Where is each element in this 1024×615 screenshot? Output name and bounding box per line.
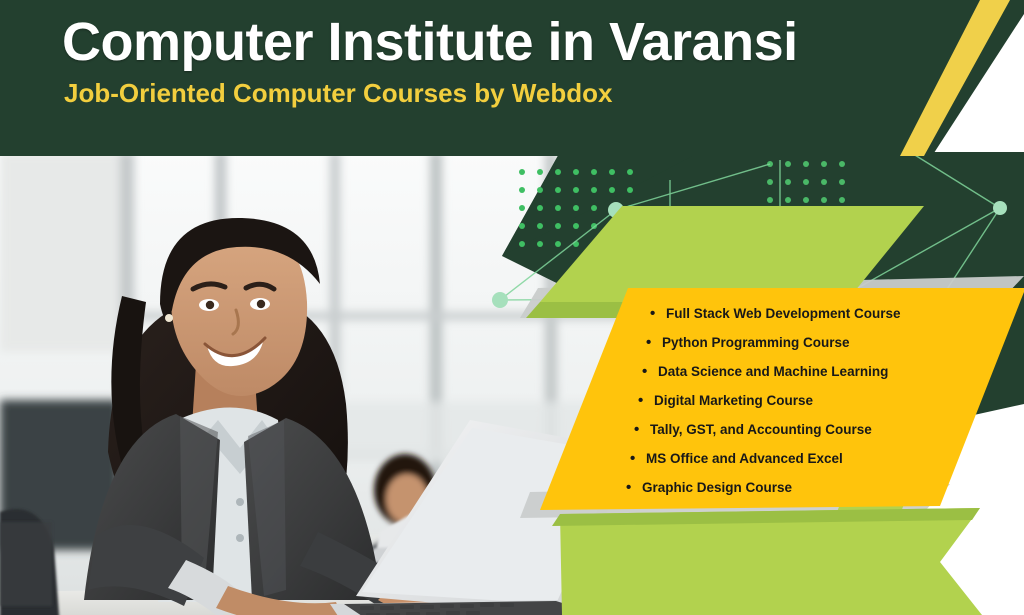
course-list-panel: • Full Stack Web Development Course • Py… [540,288,1024,510]
bullet-icon: • [634,422,650,437]
course-label: Full Stack Web Development Course [666,306,901,321]
bullet-icon: • [642,364,658,379]
list-item[interactable]: • Graphic Design Course [540,473,1024,502]
list-item[interactable]: • Full Stack Web Development Course [540,299,1024,328]
header-text-block: Computer Institute in Varansi Job-Orient… [62,14,922,108]
list-item[interactable]: • Digital Marketing Course [540,386,1024,415]
list-item[interactable]: • Python Programming Course [540,328,1024,357]
bullet-icon: • [638,393,654,408]
page-title: Computer Institute in Varansi [62,14,922,71]
course-label: Digital Marketing Course [654,393,813,408]
bullet-icon: • [646,335,662,350]
course-label: Data Science and Machine Learning [658,364,888,379]
page-subtitle: Job-Oriented Computer Courses by Webdox [64,79,922,108]
list-item[interactable]: • Tally, GST, and Accounting Course [540,415,1024,444]
list-item[interactable]: • MS Office and Advanced Excel [540,444,1024,473]
course-label: Python Programming Course [662,335,850,350]
course-list: • Full Stack Web Development Course • Py… [540,288,1024,521]
bullet-icon: • [650,306,666,321]
bullet-icon: • [626,480,642,495]
course-label: Tally, GST, and Accounting Course [650,422,872,437]
course-label: Graphic Design Course [642,480,792,495]
course-label: MS Office and Advanced Excel [646,451,843,466]
header-banner: Computer Institute in Varansi Job-Orient… [0,0,1024,156]
promo-banner: Computer Institute in Varansi Job-Orient… [0,0,1024,615]
bullet-icon: • [630,451,646,466]
list-item[interactable]: • Data Science and Machine Learning [540,357,1024,386]
